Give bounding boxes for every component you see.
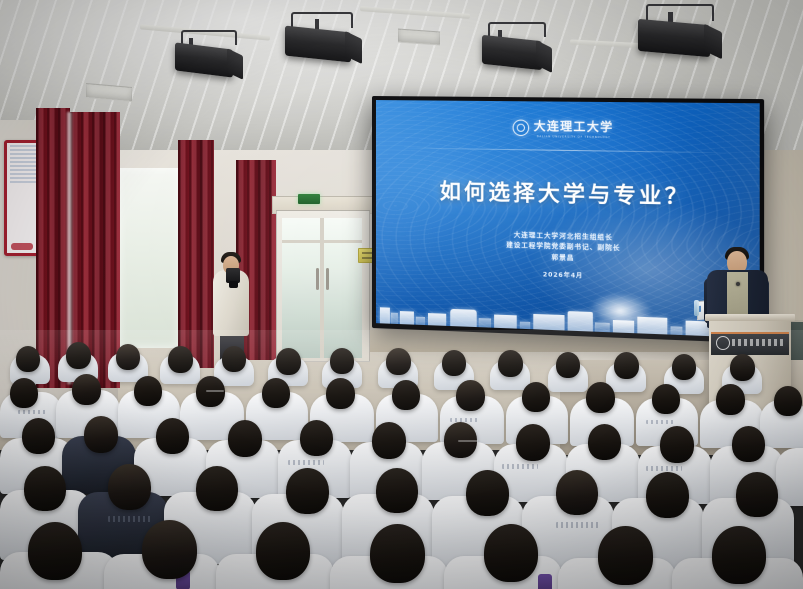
light-yoke — [646, 4, 714, 21]
light-housing — [638, 19, 710, 57]
student-head — [24, 466, 66, 511]
ceiling-stage-light — [482, 22, 554, 76]
student-head — [660, 426, 694, 463]
light-housing — [285, 26, 351, 63]
student-body — [776, 448, 803, 506]
light-yoke — [488, 22, 546, 37]
student-head — [442, 350, 466, 376]
student-head — [300, 420, 333, 456]
student-head — [484, 524, 538, 582]
student-head — [28, 522, 82, 580]
student-head — [222, 346, 246, 372]
student-head — [228, 420, 262, 457]
student-head — [276, 348, 301, 375]
student-head — [376, 468, 418, 513]
seat-cover-text — [646, 420, 676, 424]
student-head — [10, 378, 38, 408]
student-head — [598, 526, 653, 585]
student-head — [672, 354, 696, 380]
student-head — [774, 386, 802, 416]
student-head — [652, 384, 680, 414]
student-head — [196, 466, 238, 511]
seat-cover-text — [502, 464, 538, 469]
student-head — [386, 348, 411, 375]
student-head — [256, 522, 310, 580]
student-head — [392, 380, 420, 410]
student-head — [466, 470, 509, 516]
student-head — [736, 472, 778, 517]
seat-cover-text — [108, 516, 152, 522]
student-head — [522, 382, 550, 412]
student-glasses — [206, 390, 224, 392]
student-head — [134, 376, 162, 406]
student-head — [108, 464, 151, 510]
student-head — [556, 470, 598, 515]
light-yoke — [291, 12, 353, 28]
student-head — [730, 354, 755, 381]
seat-cover-text — [646, 466, 682, 471]
student-head — [370, 524, 425, 583]
student-head — [168, 346, 193, 373]
door-handle[interactable] — [316, 268, 319, 290]
auditorium-photo: 大连理工大学 DALIAN UNIVERSITY OF TECHNOLOGY 如… — [0, 0, 803, 589]
student-head — [732, 426, 765, 462]
water-bottle — [694, 300, 699, 316]
student-head — [66, 342, 91, 369]
seat-cover-text — [288, 460, 324, 465]
seat-cover-text — [556, 522, 600, 528]
ceiling-stage-light — [285, 12, 363, 68]
student-head — [456, 380, 485, 411]
student-head — [614, 352, 639, 379]
student-head — [326, 378, 355, 409]
student-head — [142, 520, 197, 579]
student-head — [330, 348, 354, 374]
seat-cover-text — [18, 410, 48, 414]
student-head — [72, 374, 101, 405]
student-glasses — [458, 440, 478, 442]
student-head — [116, 344, 140, 370]
ceiling-stage-light — [175, 30, 245, 82]
door-header-rail — [282, 240, 362, 243]
student-head — [716, 384, 745, 415]
lapel-microphone — [736, 282, 740, 286]
student-head — [372, 422, 406, 459]
exit-sign — [298, 194, 320, 204]
light-housing — [482, 35, 542, 70]
student-head — [516, 424, 550, 461]
student-head — [262, 378, 290, 408]
student-audience — [0, 330, 803, 589]
poster-footer — [11, 243, 33, 250]
student-head — [712, 526, 766, 584]
window — [118, 168, 180, 348]
podium-top-surface — [705, 314, 795, 321]
light-housing — [175, 42, 233, 77]
student-head — [556, 352, 580, 378]
ceiling-vent — [398, 29, 440, 46]
student-head — [156, 418, 189, 454]
student-head — [84, 416, 118, 453]
student-head — [588, 424, 621, 460]
student-head — [586, 382, 615, 413]
door-handle[interactable] — [326, 268, 329, 290]
student-head — [646, 472, 689, 518]
student-head — [16, 346, 40, 372]
student-head — [498, 350, 523, 377]
student-head — [22, 418, 55, 454]
camera-lens — [229, 281, 238, 288]
seat-cover-text — [450, 418, 480, 422]
student-lanyard — [538, 574, 552, 589]
student-head — [286, 468, 329, 514]
ceiling-stage-light — [638, 4, 724, 64]
